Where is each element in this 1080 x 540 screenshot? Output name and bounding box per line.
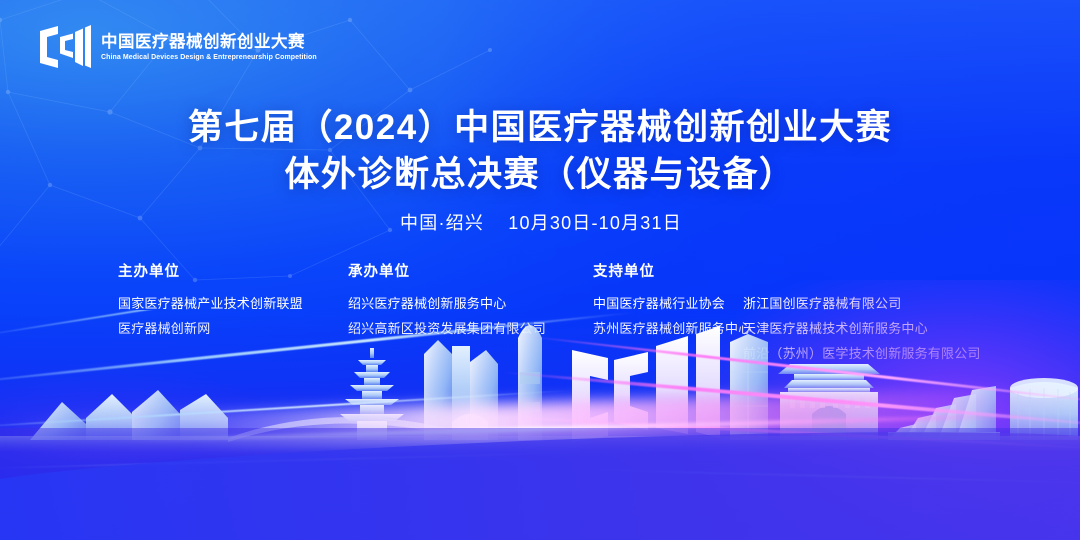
brand-name-cn: 中国医疗器械创新创业大赛 (101, 34, 323, 51)
title-line-2: 体外诊断总决赛（仪器与设备） (0, 151, 1080, 198)
cityscape-scene (0, 310, 1080, 540)
organizer-heading: 承办单位 (348, 264, 593, 281)
competition-book-logo-icon (38, 22, 92, 72)
title-line-1: 第七届（2024）中国医疗器械创新创业大赛 (0, 104, 1080, 151)
organizer-heading: 主办单位 (118, 264, 348, 281)
organizer-heading: 支持单位 (593, 264, 743, 281)
title-block: 第七届（2024）中国医疗器械创新创业大赛 体外诊断总决赛（仪器与设备） 中国·… (0, 104, 1080, 235)
brand-name-en: China Medical Devices Design & Entrepren… (101, 53, 317, 60)
light-streak (0, 310, 513, 340)
brand-logo-text: 中国医疗器械创新创业大赛 China Medical Devices Desig… (101, 34, 323, 60)
event-poster: 中国医疗器械创新创业大赛 China Medical Devices Desig… (0, 0, 1080, 540)
event-dates: 10月30日-10月31日 (508, 211, 682, 235)
event-location: 中国·绍兴 (398, 211, 486, 235)
brand-logo: 中国医疗器械创新创业大赛 China Medical Devices Desig… (38, 22, 323, 72)
event-subtitle: 中国·绍兴 10月30日-10月31日 (0, 211, 1080, 235)
